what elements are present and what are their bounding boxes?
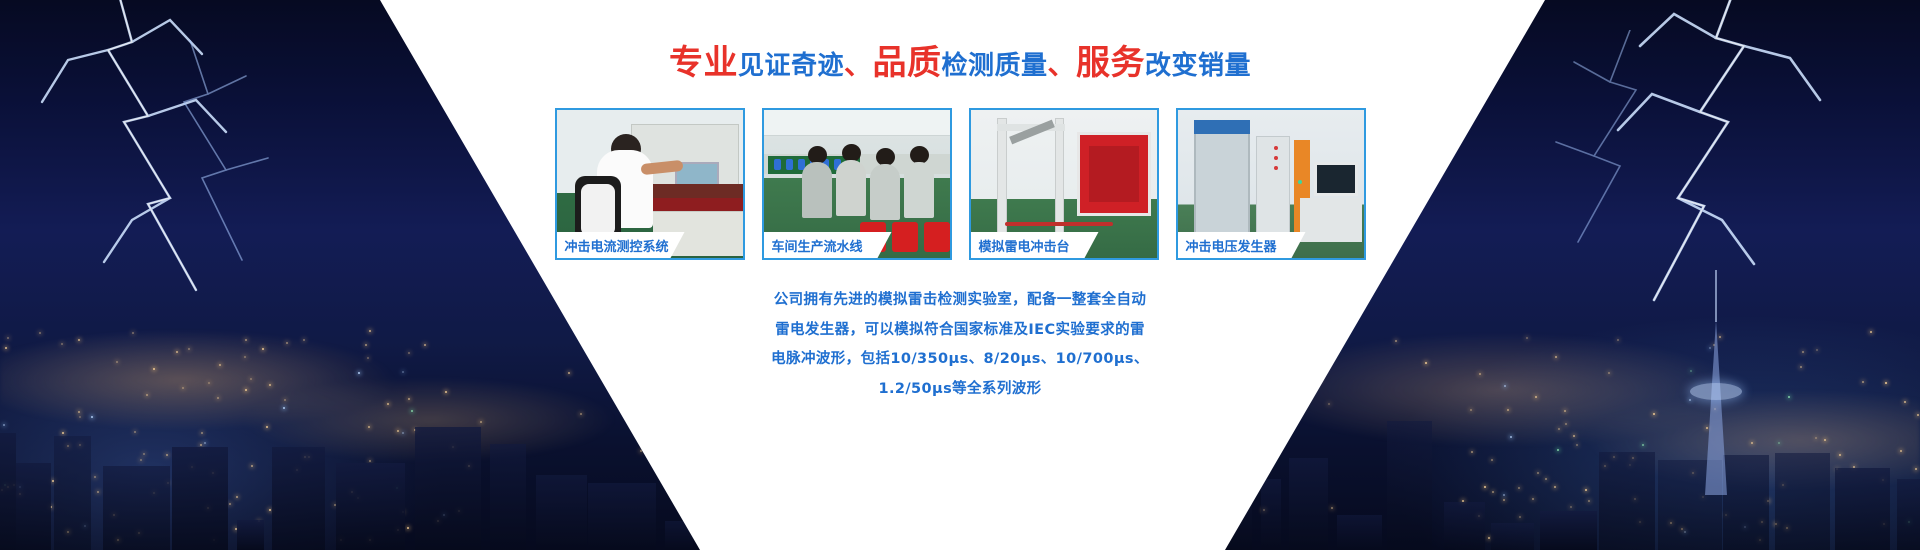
gallery-card[interactable]: 冲击电流测控系统 [555, 108, 745, 260]
description-line-1: 雷电发生器，可以模拟符合国家标准及IEC实验要求的雷 [771, 316, 1149, 346]
gallery-caption: 车间生产流水线 [764, 232, 892, 258]
headline-segment-0: 专业 [669, 43, 738, 83]
headline-segment-6: 服务 [1076, 43, 1145, 83]
gallery-caption: 冲击电压发生器 [1178, 232, 1306, 258]
banner-content: 专业见证奇迹、品质检测质量、服务改变销量 冲击电流测控系 [0, 0, 1920, 550]
gallery-card[interactable]: 冲击电压发生器 [1176, 108, 1366, 260]
headline-segment-7: 改变销量 [1145, 51, 1251, 81]
gallery-card[interactable]: 车间生产流水线 [762, 108, 952, 260]
description-line-3: 1.2/50μs等全系列波形 [771, 375, 1149, 405]
gallery-card[interactable]: 模拟雷电冲击台 [969, 108, 1159, 260]
headline-segment-4: 检测质量 [941, 51, 1047, 81]
description-line-0: 公司拥有先进的模拟雷击检测实验室，配备一整套全自动 [771, 286, 1149, 316]
description-line-2: 电脉冲波形，包括10/350μs、8/20μs、10/700μs、 [771, 345, 1149, 375]
headline-segment-5: 、 [1048, 48, 1077, 81]
headline-segment-3: 品质 [872, 43, 941, 83]
promo-banner: 专业见证奇迹、品质检测质量、服务改变销量 冲击电流测控系 [0, 0, 1920, 550]
description-paragraph: 公司拥有先进的模拟雷击检测实验室，配备一整套全自动雷电发生器，可以模拟符合国家标… [771, 286, 1149, 405]
headline-segment-2: 、 [844, 48, 873, 81]
photo-gallery: 冲击电流测控系统 [555, 108, 1366, 260]
gallery-caption: 冲击电流测控系统 [557, 232, 685, 258]
headline-segment-1: 见证奇迹 [738, 51, 844, 81]
gallery-caption: 模拟雷电冲击台 [971, 232, 1099, 258]
headline: 专业见证奇迹、品质检测质量、服务改变销量 [669, 46, 1251, 80]
